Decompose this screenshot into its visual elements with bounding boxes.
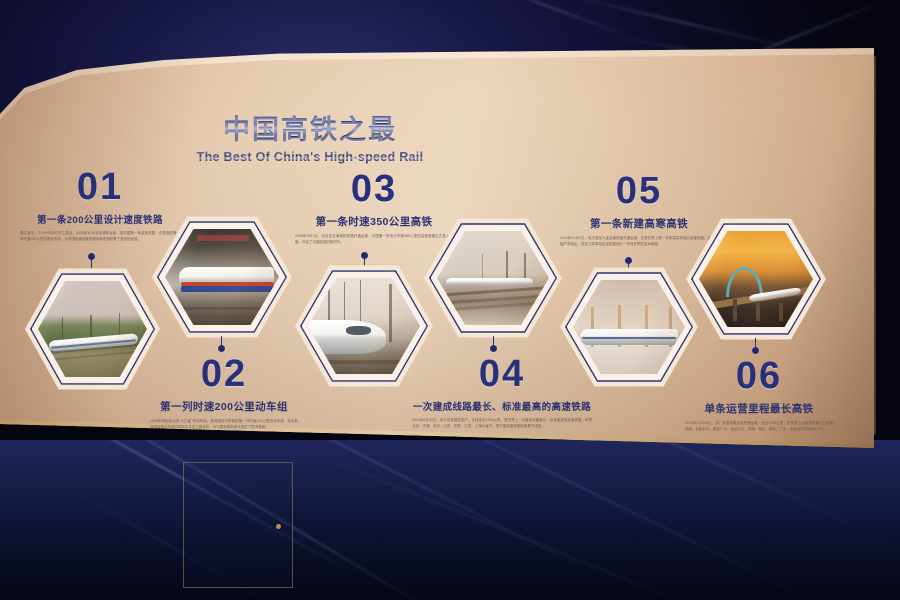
entry-06[interactable]: 06 单条运营里程最长高铁 2012年12月26日，京广高速铁路全线贯通运营，全… <box>685 357 833 433</box>
hexagon-frame-02[interactable] <box>152 214 292 340</box>
entry-02[interactable]: 02 第一列时速200公里动车组 1998年研制成功的"大白鲨"号动车组，是我国… <box>150 355 298 431</box>
entry-body: 2011年6月30日，京沪高铁建成投产，全线全长1318公里，是世界上一次建成线… <box>412 418 592 430</box>
entry-heading: 一次建成线路最长、标准最高的高速铁路 <box>412 399 592 413</box>
entry-heading: 第一列时速200公里动车组 <box>150 399 298 414</box>
page-title: 中国高铁之最 The Best Of China's High-speed Ra… <box>190 108 430 164</box>
entry-number: 06 <box>685 357 833 395</box>
connector-dot <box>752 347 759 354</box>
hexagon-frame-05[interactable] <box>560 265 698 389</box>
hexagon-frame-04[interactable] <box>424 216 562 340</box>
entry-number: 01 <box>20 168 180 206</box>
entry-number: 03 <box>295 170 453 208</box>
entry-heading: 单条运营里程最长高铁 <box>685 401 833 416</box>
hexagon-frame-01[interactable] <box>25 266 160 392</box>
entry-number: 05 <box>560 172 718 210</box>
wall-content: 中国高铁之最 The Best Of China's High-speed Ra… <box>0 0 900 600</box>
connector-dot <box>218 345 225 352</box>
title-english: The Best Of China's High-speed Rail <box>190 150 430 164</box>
entry-number: 02 <box>150 355 298 393</box>
hexagon-frame-06[interactable] <box>686 216 826 342</box>
title-chinese: 中国高铁之最 <box>190 108 430 147</box>
exhibition-photo: 中国高铁之最 The Best Of China's High-speed Ra… <box>0 0 900 600</box>
connector-dot <box>490 345 497 352</box>
entry-body: 2012年12月26日，京广高速铁路全线贯通运营，全长2298公里，是世界上运营… <box>685 421 833 433</box>
entry-body: 1998年研制成功的"大白鲨"号动车组，是我国自行研制的第一列时速200公里的动… <box>150 419 298 431</box>
